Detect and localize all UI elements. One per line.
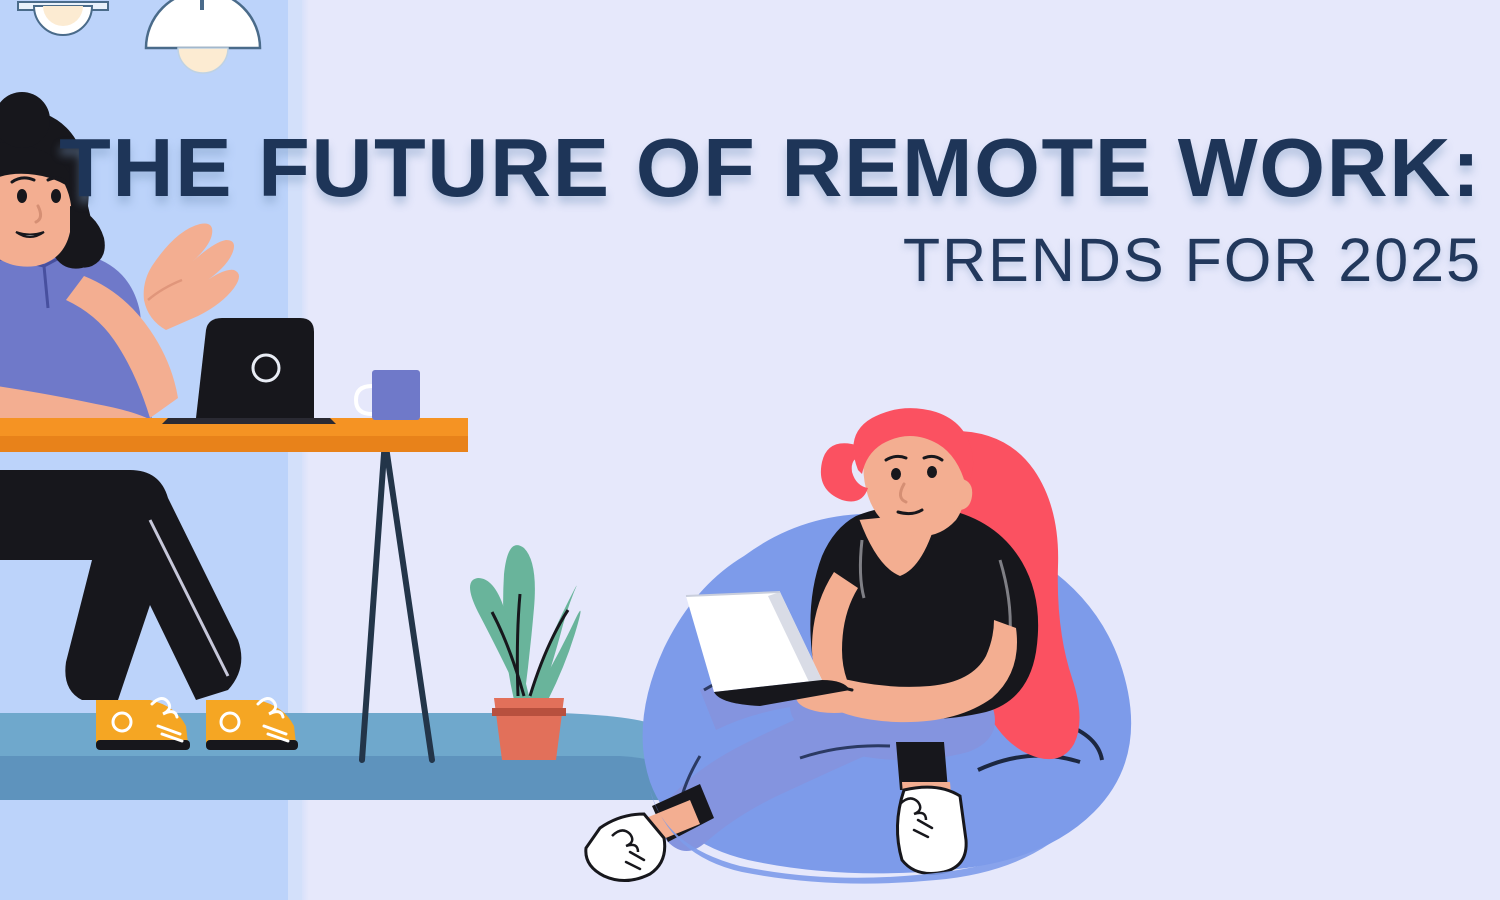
right-worker-sneaker-right xyxy=(897,787,966,873)
illustration-artboard xyxy=(0,0,1500,900)
banner-image: THE FUTURE OF REMOTE WORK: TRENDS FOR 20… xyxy=(0,0,1500,900)
